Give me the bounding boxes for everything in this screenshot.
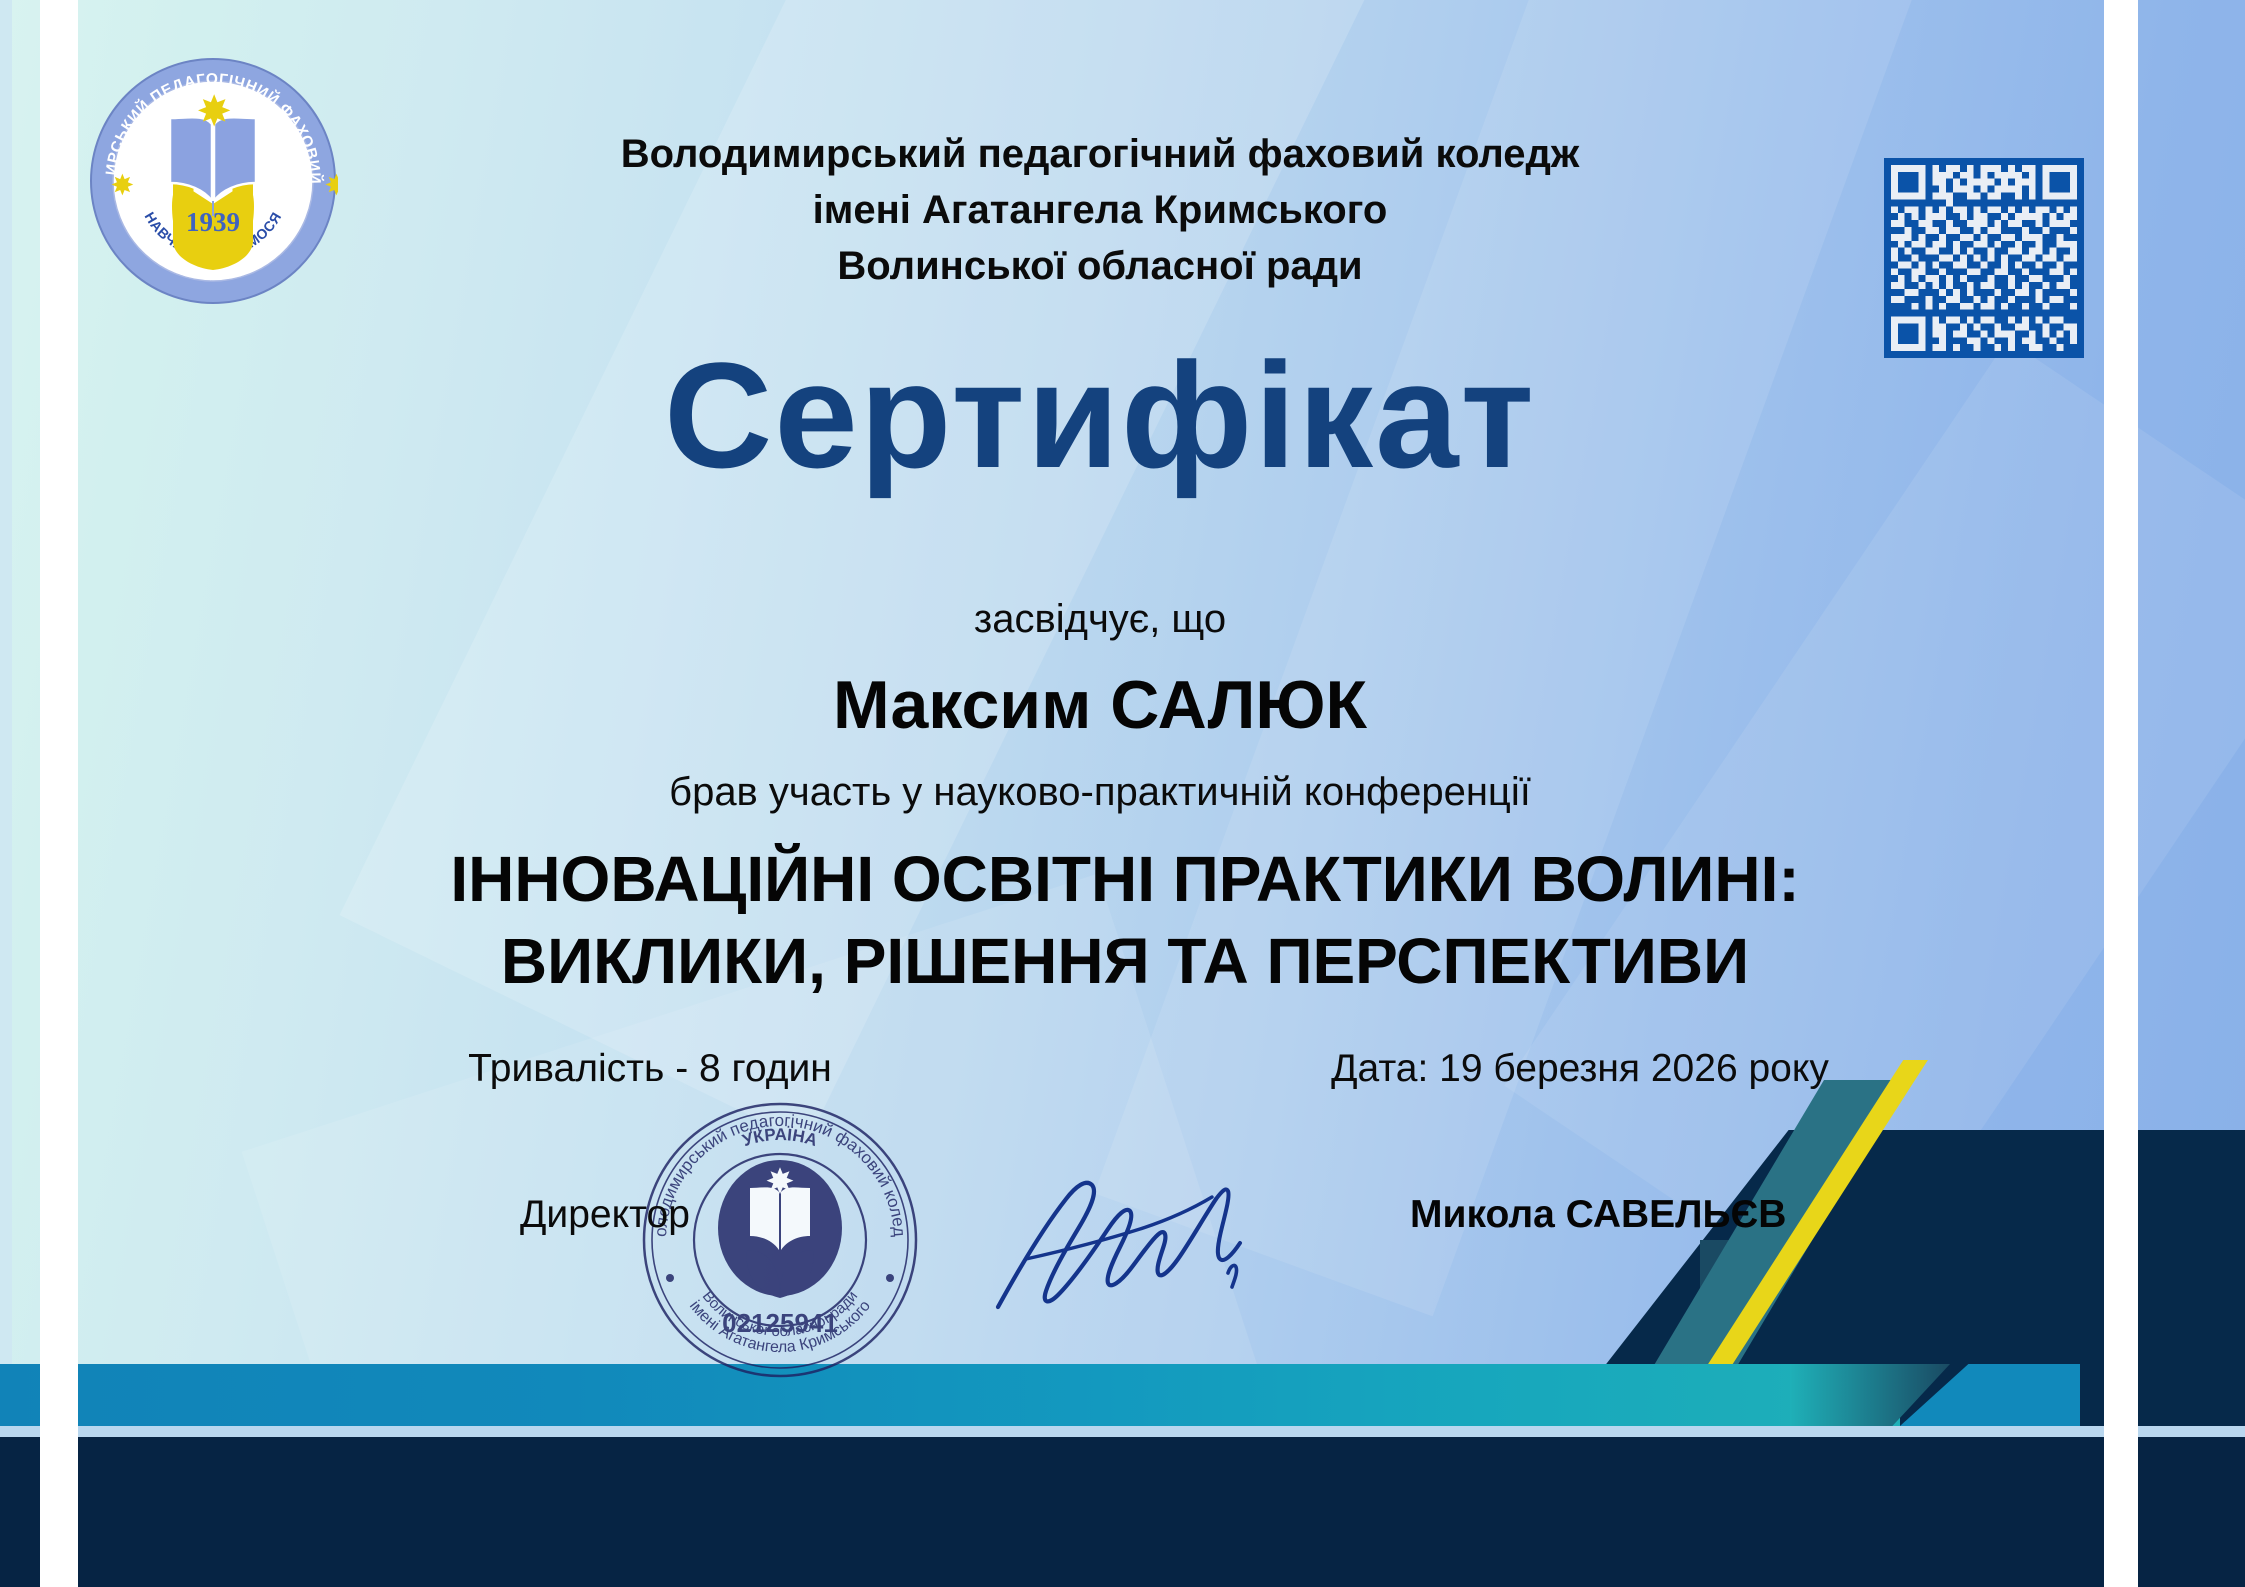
director-name: Микола САВЕЛЬЄВ xyxy=(1410,1193,1890,1237)
certificate: ВОЛОДИМИРСЬКИЙ ПЕДАГОГІЧНИЙ ФАХОВИЙ КОЛЕ… xyxy=(0,0,2245,1587)
duration-text: Тривалість - 8 годин xyxy=(380,1047,920,1091)
conference-line-2: ВИКЛИКИ, РІШЕННЯ ТА ПЕРСПЕКТИВИ xyxy=(170,920,2080,1002)
certificate-content: Володимирський педагогічний фаховий коле… xyxy=(0,0,2245,1587)
organization-line-2: імені Агатангела Кримського xyxy=(370,182,1830,238)
organization-header: Володимирський педагогічний фаховий коле… xyxy=(370,126,1830,294)
participation-text: брав участь у науково-практичній конфере… xyxy=(370,768,1830,816)
certificate-title: Сертифікат xyxy=(370,340,1830,490)
recipient-name: Максим САЛЮК xyxy=(370,665,1830,745)
date-text: Дата: 19 березня 2026 року xyxy=(1240,1047,1920,1091)
organization-line-3: Волинської обласної ради xyxy=(370,238,1830,294)
conference-line-1: ІННОВАЦІЙНІ ОСВІТНІ ПРАКТИКИ ВОЛИНІ: xyxy=(170,838,2080,920)
organization-line-1: Володимирський педагогічний фаховий коле… xyxy=(370,126,1830,182)
conference-title: ІННОВАЦІЙНІ ОСВІТНІ ПРАКТИКИ ВОЛИНІ: ВИК… xyxy=(170,838,2080,1002)
director-label: Директор xyxy=(520,1193,760,1237)
attestation-text: засвідчує, що xyxy=(370,595,1830,643)
